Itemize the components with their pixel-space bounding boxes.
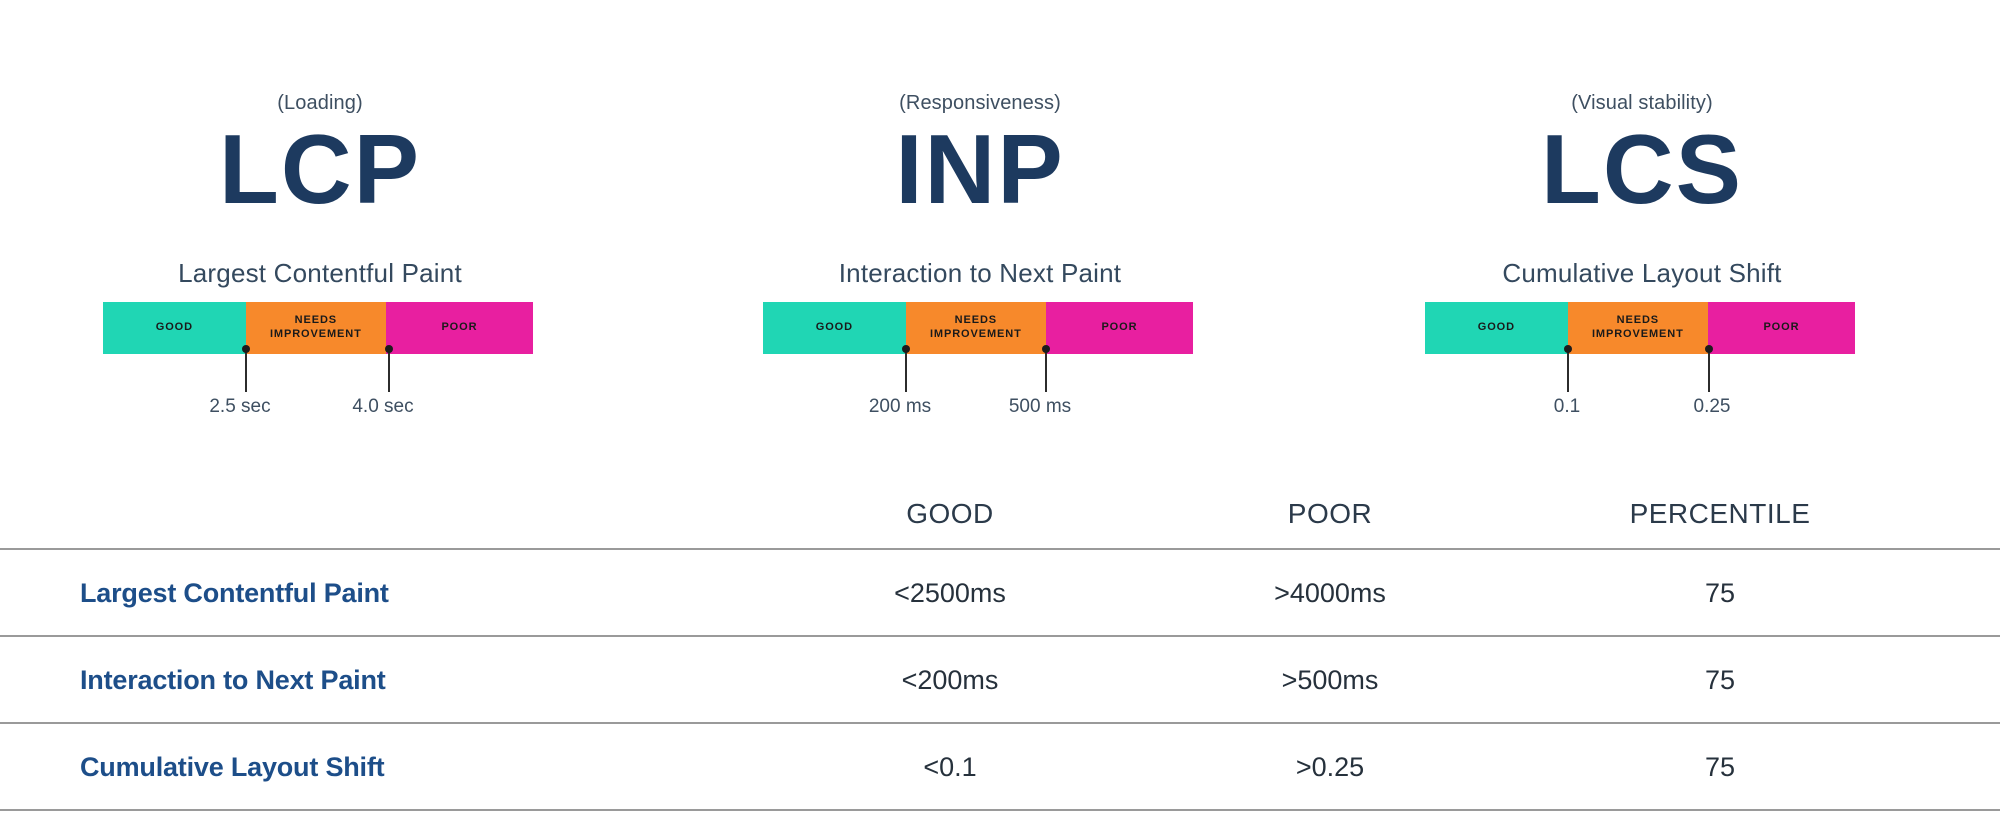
threshold-label-poor: 0.25 (1632, 396, 1792, 418)
row-metric-name: Interaction to Next Paint (0, 665, 760, 696)
threshold-tick-line-poor (388, 348, 390, 392)
row-percentile-value: 75 (1520, 665, 1920, 696)
row-percentile-value: 75 (1520, 578, 1920, 609)
metric-full-name: Interaction to Next Paint (660, 258, 1300, 289)
row-poor-value: >0.25 (1140, 752, 1520, 783)
bar-segment-poor: POOR (386, 302, 533, 354)
row-good-value: <2500ms (760, 578, 1140, 609)
table-row: Cumulative Layout Shift <0.1 >0.25 75 (0, 724, 2000, 811)
table-header-row: GOOD POOR PERCENTILE (0, 478, 2000, 550)
threshold-label-poor: 4.0 sec (303, 396, 463, 418)
threshold-tick-dot-good (1564, 345, 1572, 353)
threshold-tick-line-good (905, 348, 907, 392)
row-metric-name: Largest Contentful Paint (0, 578, 760, 609)
metric-card-lcp: (Loading) LCP Largest Contentful Paint G… (0, 0, 640, 450)
threshold-tick-dot-poor (1042, 345, 1050, 353)
threshold-bar: GOOD NEEDSIMPROVEMENT POOR (763, 302, 1193, 354)
threshold-label-good: 200 ms (820, 396, 980, 418)
threshold-bar: GOOD NEEDSIMPROVEMENT POOR (1425, 302, 1855, 354)
metric-full-name: Largest Contentful Paint (0, 258, 640, 289)
threshold-label-good: 0.1 (1487, 396, 1647, 418)
metric-category: (Loading) (0, 92, 640, 115)
metric-full-name: Cumulative Layout Shift (1322, 258, 1962, 289)
row-poor-value: >4000ms (1140, 578, 1520, 609)
threshold-tick-dot-poor (385, 345, 393, 353)
threshold-tick-line-poor (1045, 348, 1047, 392)
bar-segment-needs-improvement: NEEDSIMPROVEMENT (906, 302, 1046, 354)
threshold-tick-dot-good (902, 345, 910, 353)
bar-segment-good: GOOD (1425, 302, 1568, 354)
metric-abbreviation: LCP (0, 118, 640, 221)
row-metric-name: Cumulative Layout Shift (0, 752, 760, 783)
threshold-tick-line-good (245, 348, 247, 392)
threshold-tick-dot-poor (1705, 345, 1713, 353)
bar-segment-good: GOOD (763, 302, 906, 354)
metric-abbreviation: LCS (1322, 118, 1962, 221)
row-poor-value: >500ms (1140, 665, 1520, 696)
metric-card-inp: (Responsiveness) INP Interaction to Next… (660, 0, 1300, 450)
metric-category: (Visual stability) (1322, 92, 1962, 115)
table-row: Interaction to Next Paint <200ms >500ms … (0, 637, 2000, 724)
threshold-tick-line-poor (1708, 348, 1710, 392)
bar-segment-needs-improvement: NEEDSIMPROVEMENT (246, 302, 386, 354)
row-good-value: <200ms (760, 665, 1140, 696)
threshold-bar: GOOD NEEDSIMPROVEMENT POOR (103, 302, 533, 354)
threshold-tick-line-good (1567, 348, 1569, 392)
header-good: GOOD (760, 498, 1140, 530)
vitals-summary-table: GOOD POOR PERCENTILE Largest Contentful … (0, 478, 2000, 811)
bar-segment-poor: POOR (1708, 302, 1855, 354)
header-poor: POOR (1140, 498, 1520, 530)
metric-card-lcs: (Visual stability) LCS Cumulative Layout… (1322, 0, 1962, 450)
row-percentile-value: 75 (1520, 752, 1920, 783)
bar-segment-poor: POOR (1046, 302, 1193, 354)
row-good-value: <0.1 (760, 752, 1140, 783)
table-row: Largest Contentful Paint <2500ms >4000ms… (0, 550, 2000, 637)
threshold-label-good: 2.5 sec (160, 396, 320, 418)
table-rule (0, 809, 2000, 811)
metric-category: (Responsiveness) (660, 92, 1300, 115)
metric-cards: (Loading) LCP Largest Contentful Paint G… (0, 0, 2000, 450)
metric-abbreviation: INP (660, 118, 1300, 221)
header-percentile: PERCENTILE (1520, 498, 1920, 530)
threshold-label-poor: 500 ms (960, 396, 1120, 418)
bar-segment-good: GOOD (103, 302, 246, 354)
bar-segment-needs-improvement: NEEDSIMPROVEMENT (1568, 302, 1708, 354)
threshold-tick-dot-good (242, 345, 250, 353)
